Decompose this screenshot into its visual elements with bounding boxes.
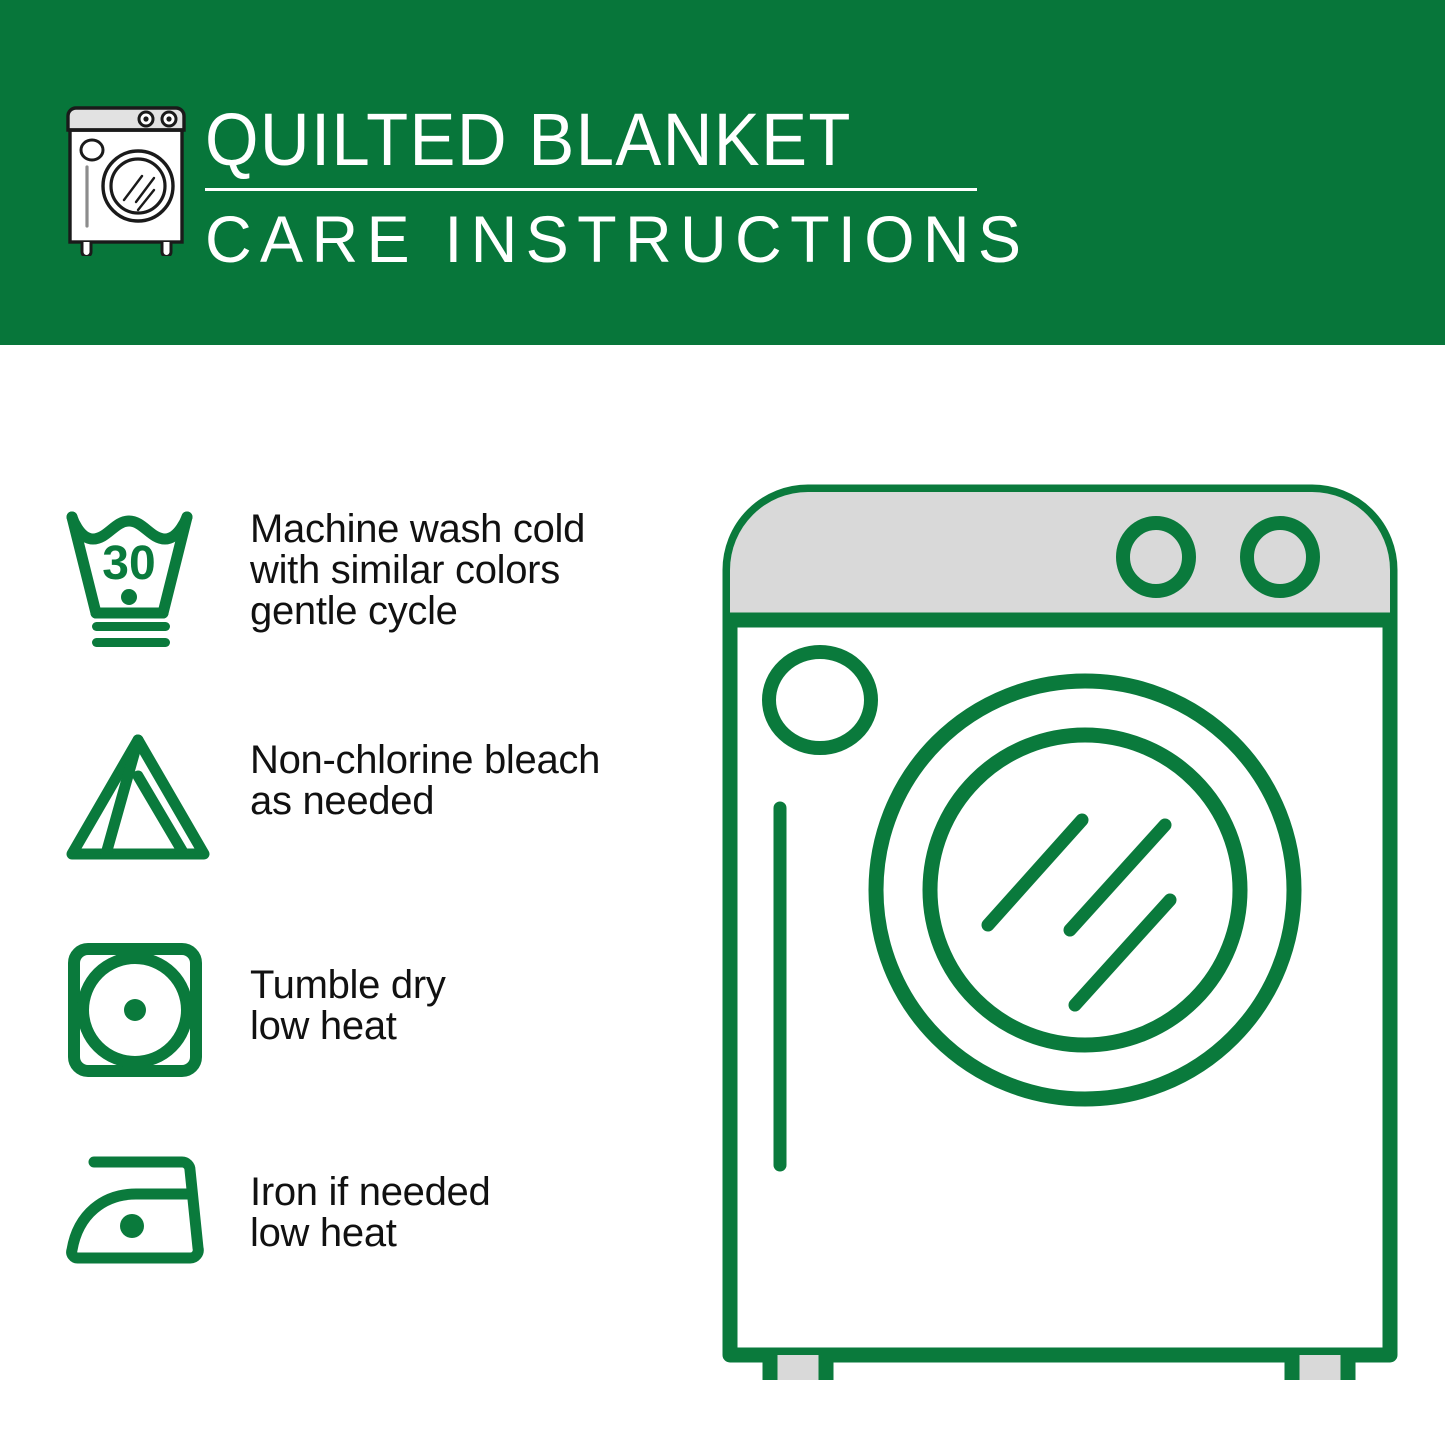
care-symbol-bleach <box>60 728 250 868</box>
wash-temperature-label: 30 <box>102 537 155 590</box>
care-symbol-dry <box>60 935 250 1085</box>
care-symbol-wash: 30 <box>60 505 250 653</box>
wash-dot <box>121 589 137 605</box>
title-divider <box>205 188 977 191</box>
machine-leg-left <box>770 1355 826 1380</box>
care-row-wash: 30 Machine wash cold with similar colors… <box>60 505 585 653</box>
care-row-iron: Iron if needed low heat <box>60 1148 490 1276</box>
care-text-bleach: Non-chlorine bleach as needed <box>250 728 600 822</box>
machine-leg-right <box>1292 1355 1348 1380</box>
tumble-dry-low-icon <box>60 935 210 1085</box>
header-banner: QUILTED BLANKET CARE INSTRUCTIONS <box>0 0 1445 345</box>
care-row-dry: Tumble dry low heat <box>60 935 446 1085</box>
page-subtitle: CARE INSTRUCTIONS <box>205 201 969 277</box>
iron-heat-dot <box>120 1214 144 1238</box>
care-symbol-iron <box>60 1148 250 1276</box>
care-row-bleach: Non-chlorine bleach as needed <box>60 728 600 868</box>
header-title-block: QUILTED BLANKET CARE INSTRUCTIONS <box>205 98 985 277</box>
control-knob-right[interactable] <box>1247 523 1313 591</box>
washing-machine-icon <box>66 104 192 256</box>
non-chlorine-bleach-triangle-icon <box>60 728 228 868</box>
wash-basin-30-icon: 30 <box>60 505 230 653</box>
control-knob-left[interactable] <box>1123 523 1189 591</box>
detergent-drawer[interactable] <box>769 652 871 748</box>
dry-heat-dot <box>124 999 146 1021</box>
front-load-washing-machine-illustration <box>700 460 1420 1380</box>
page-title: QUILTED BLANKET <box>205 98 930 182</box>
care-instructions-page: QUILTED BLANKET CARE INSTRUCTIONS 30 Mac… <box>0 0 1445 1445</box>
care-text-iron: Iron if needed low heat <box>250 1148 490 1254</box>
iron-low-heat-icon <box>60 1148 230 1276</box>
care-text-wash: Machine wash cold with similar colors ge… <box>250 505 585 632</box>
care-text-dry: Tumble dry low heat <box>250 935 446 1047</box>
